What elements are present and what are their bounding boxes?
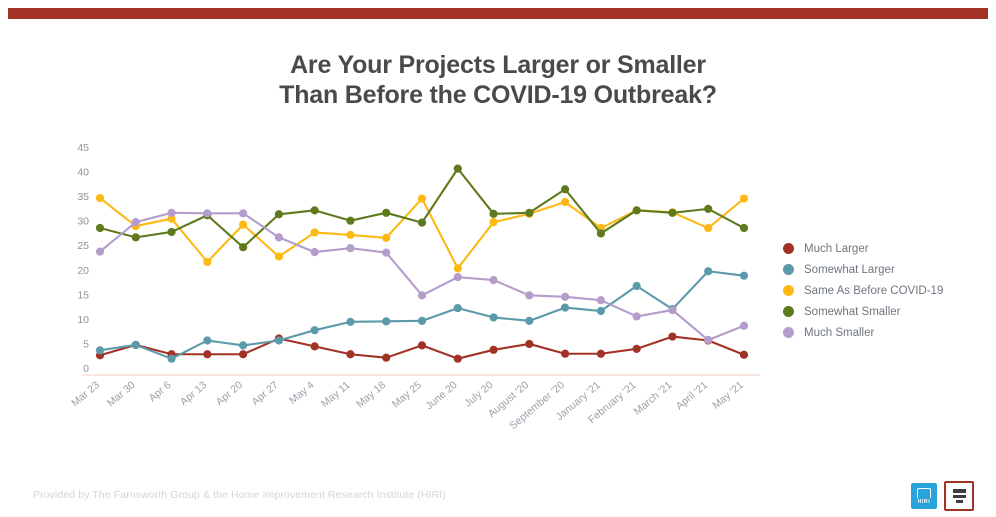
data-point[interactable] [382,209,390,217]
data-point[interactable] [275,252,283,260]
data-point[interactable] [740,322,748,330]
y-axis-tick-label: 45 [77,142,89,154]
data-point[interactable] [311,206,319,214]
y-axis-tick-label: 10 [77,314,89,326]
data-point[interactable] [132,233,140,241]
data-point[interactable] [167,228,175,236]
data-point[interactable] [561,350,569,358]
legend-item-label: Much Smaller [804,327,874,339]
footer-attribution: Provided by The Farnsworth Group & the H… [33,489,446,501]
x-axis-tick-label: Apr 13 [178,379,210,408]
legend-color-swatch [783,327,794,338]
data-point[interactable] [275,210,283,218]
page-title-line-1: Are Your Projects Larger or Smaller [0,50,996,80]
data-point[interactable] [525,209,533,217]
data-point[interactable] [203,209,211,217]
data-point[interactable] [96,248,104,256]
legend-item[interactable]: Same As Before COVID-19 [783,280,983,301]
data-point[interactable] [489,276,497,284]
data-point[interactable] [203,258,211,266]
data-point[interactable] [740,272,748,280]
data-point[interactable] [633,345,641,353]
data-series-group [96,165,748,363]
legend-color-swatch [783,306,794,317]
data-point[interactable] [454,355,462,363]
series-somewhat-smaller[interactable] [96,165,748,252]
data-point[interactable] [346,318,354,326]
data-point[interactable] [418,194,426,202]
series-same-as-before-covid-19[interactable] [96,194,748,272]
data-point[interactable] [633,312,641,320]
data-point[interactable] [740,351,748,359]
data-point[interactable] [597,350,605,358]
data-point[interactable] [167,355,175,363]
farnsworth-bar-1 [953,489,966,493]
data-point[interactable] [311,326,319,334]
x-axis-tick-label: May 11 [319,379,353,410]
data-point[interactable] [561,303,569,311]
farnsworth-bar-3 [956,500,963,503]
data-point[interactable] [489,313,497,321]
y-axis-tick-label: 40 [77,167,89,179]
data-point[interactable] [418,341,426,349]
data-point[interactable] [633,282,641,290]
data-point[interactable] [704,224,712,232]
page-title: Are Your Projects Larger or Smaller Than… [0,50,996,110]
data-point[interactable] [668,306,676,314]
legend-item[interactable]: Somewhat Larger [783,259,983,280]
legend-color-swatch [783,264,794,275]
data-point[interactable] [311,342,319,350]
data-point[interactable] [740,224,748,232]
data-point[interactable] [525,340,533,348]
data-point[interactable] [346,244,354,252]
x-axis-tick-label: Apr 20 [214,379,246,408]
data-point[interactable] [704,336,712,344]
data-point[interactable] [239,209,247,217]
data-point[interactable] [454,264,462,272]
hiri-logo-text: HIRI [918,499,930,505]
page-title-line-2: Than Before the COVID-19 Outbreak? [0,80,996,110]
data-point[interactable] [704,205,712,213]
data-point[interactable] [489,218,497,226]
data-point[interactable] [418,219,426,227]
data-point[interactable] [239,243,247,251]
data-point[interactable] [561,185,569,193]
legend-item-label: Same As Before COVID-19 [804,285,943,297]
x-axis-tick-label: June 20 [423,379,459,412]
x-axis-tick-label: July 20 [462,379,495,410]
data-point[interactable] [597,307,605,315]
data-point[interactable] [239,221,247,229]
y-axis-tick-label: 5 [83,338,89,350]
x-axis-tick-label: March '21 [632,379,675,418]
data-point[interactable] [132,218,140,226]
data-point[interactable] [525,317,533,325]
data-point[interactable] [239,350,247,358]
data-point[interactable] [454,165,462,173]
x-axis-tick-label: May '21 [710,379,746,412]
data-point[interactable] [489,210,497,218]
data-point[interactable] [418,291,426,299]
data-point[interactable] [597,229,605,237]
x-axis-tick-label: April '21 [674,379,711,412]
data-point[interactable] [203,336,211,344]
series-line [100,198,744,268]
data-point[interactable] [382,248,390,256]
legend-item[interactable]: Much Smaller [783,322,983,343]
data-point[interactable] [346,350,354,358]
house-icon [917,488,931,498]
legend-item-label: Somewhat Larger [804,264,895,276]
data-point[interactable] [311,248,319,256]
top-accent-bar [8,8,988,19]
data-point[interactable] [96,346,104,354]
data-point[interactable] [346,231,354,239]
data-point[interactable] [346,217,354,225]
data-point[interactable] [96,224,104,232]
y-axis-tick-label: 20 [77,265,89,277]
data-point[interactable] [96,194,104,202]
data-point[interactable] [132,341,140,349]
data-point[interactable] [382,317,390,325]
data-point[interactable] [668,209,676,217]
farnsworth-logo [944,481,974,511]
data-point[interactable] [275,233,283,241]
data-point[interactable] [668,332,676,340]
x-axis-tick-label: Apr 27 [249,379,281,408]
y-axis-tick-label: 15 [77,289,89,301]
x-axis-tick-label: May 18 [354,379,388,410]
data-point[interactable] [382,354,390,362]
legend-item[interactable]: Somewhat Smaller [783,301,983,322]
x-axis-tick-label: May 25 [390,379,424,410]
data-point[interactable] [418,317,426,325]
x-axis-tick-label: May 4 [287,379,317,407]
y-axis-tick-label: 25 [77,240,89,252]
data-point[interactable] [561,198,569,206]
data-point[interactable] [454,304,462,312]
data-point[interactable] [382,234,390,242]
chart-legend: Much LargerSomewhat LargerSame As Before… [783,238,983,343]
hiri-logo: HIRI [911,483,937,509]
data-point[interactable] [489,346,497,354]
logo-group: HIRI [911,481,974,511]
legend-color-swatch [783,243,794,254]
data-point[interactable] [704,267,712,275]
y-axis-tick-label: 0 [83,363,89,375]
x-axis: Mar 23Mar 30Apr 6Apr 13Apr 20Apr 27May 4… [69,379,746,432]
x-axis-tick-label: Apr 6 [147,379,174,404]
y-axis: 051015202530354045 [77,142,89,375]
data-point[interactable] [561,293,569,301]
farnsworth-bar-2 [953,495,966,498]
data-point[interactable] [275,336,283,344]
legend-item[interactable]: Much Larger [783,238,983,259]
y-axis-tick-label: 35 [77,191,89,203]
data-point[interactable] [633,206,641,214]
y-axis-tick-label: 30 [77,216,89,228]
x-axis-tick-label: Mar 30 [105,379,138,409]
data-point[interactable] [239,341,247,349]
data-point[interactable] [454,273,462,281]
data-point[interactable] [740,194,748,202]
legend-item-label: Much Larger [804,243,869,255]
data-point[interactable] [167,209,175,217]
series-line [100,169,744,248]
x-axis-tick-label: Mar 23 [69,379,102,409]
legend-item-label: Somewhat Smaller [804,306,901,318]
data-point[interactable] [597,296,605,304]
data-point[interactable] [203,350,211,358]
data-point[interactable] [311,228,319,236]
data-point[interactable] [525,291,533,299]
legend-color-swatch [783,285,794,296]
